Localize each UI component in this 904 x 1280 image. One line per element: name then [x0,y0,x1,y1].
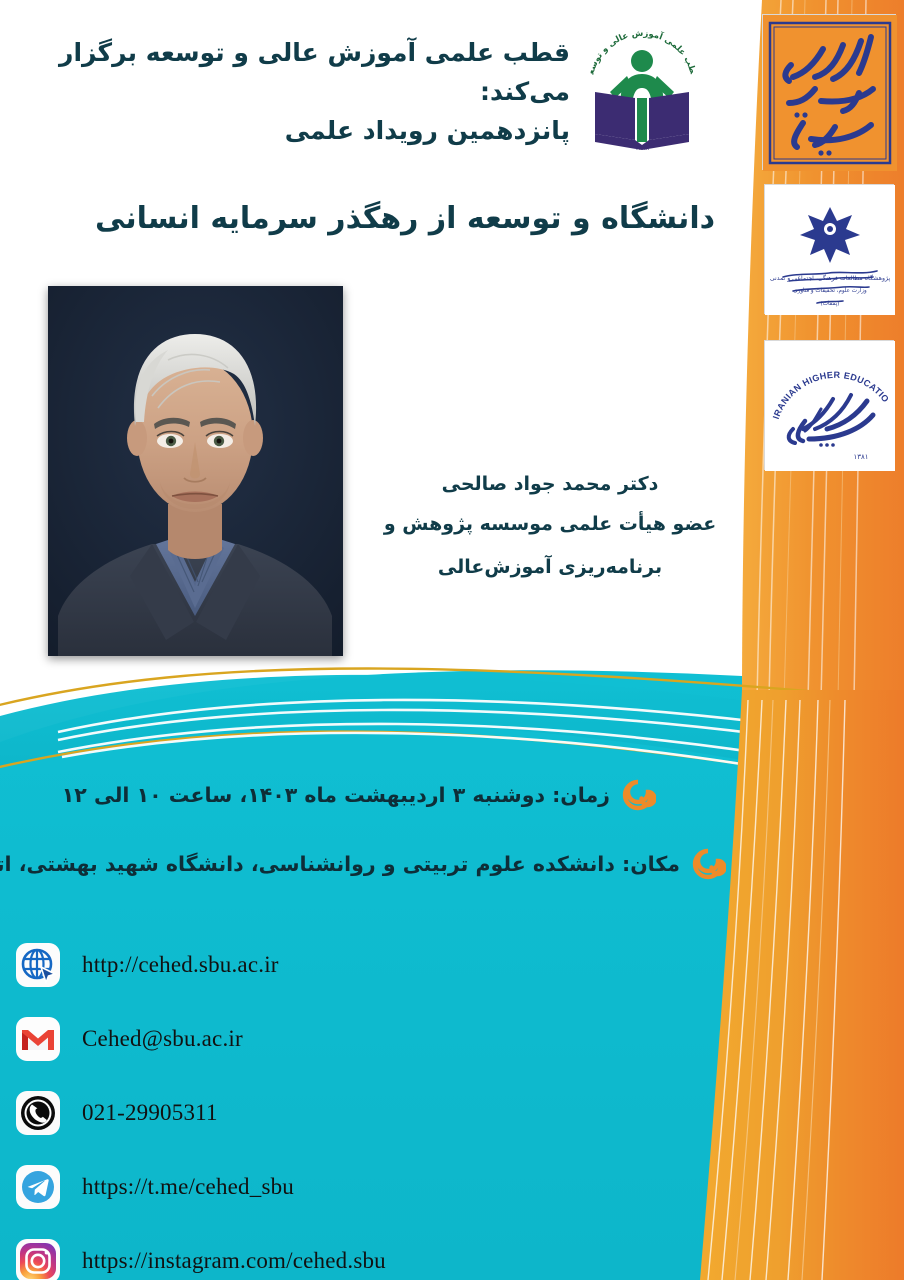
poster-header: قطب علمی آموزش عالی و توسعه برگزار می‌کن… [40,34,570,150]
logo-shahid-beheshti-university [762,14,896,170]
ihcs-logo-line1: پژوهشگاه مطالعات فرهنگی، اجتماعی و تمدنی [770,274,891,282]
ihea-logo-year: ۱۳۸۱ [853,453,868,461]
phone-number[interactable]: 021-29905311 [82,1100,218,1126]
logo-ihcs-research-institute: پژوهشگاه مطالعات فرهنگی، اجتماعی و تمدنی… [764,184,894,314]
event-time-row: زمان: دوشنبه ۳ اردیبهشت ماه ۱۴۰۳، ساعت ۱… [62,777,656,813]
speaker-info: دکتر محمد جواد صالحی عضو هیأت علمی موسسه… [380,470,720,585]
swirl-bullet-icon [620,777,656,813]
email-address[interactable]: Cehed@sbu.ac.ir [82,1026,243,1052]
speaker-affiliation-line-1: عضو هیأت علمی موسسه پژوهش و [380,507,720,542]
telegram-icon [14,1163,62,1211]
instagram-url[interactable]: https://instagram.com/cehed.sbu [82,1248,386,1274]
speaker-photo [48,286,343,656]
contact-row-telegram[interactable]: https://t.me/cehed_sbu [8,1150,568,1224]
speaker-name: دکتر محمد جواد صالحی [380,470,720,499]
website-url[interactable]: http://cehed.sbu.ac.ir [82,952,279,978]
contact-row-email[interactable]: Cehed@sbu.ac.ir [8,1002,568,1076]
contact-list: http://cehed.sbu.ac.ir Cehed@sbu.ac.ir [8,928,568,1280]
event-poster: قطب علمی آموزش عالی و توسعه برگزار می‌کن… [0,0,904,1280]
cehed-logo-year: ۱۳۹۸ [635,144,649,152]
speaker-affiliation-line-2: برنامه‌ریزی آموزش‌عالی [380,550,720,585]
event-place-text: مکان: دانشکده علوم تربیتی و روانشناسی، د… [0,852,680,876]
contact-row-website[interactable]: http://cehed.sbu.ac.ir [8,928,568,1002]
swirl-bullet-icon [690,846,726,882]
event-place-row: مکان: دانشکده علوم تربیتی و روانشناسی، د… [0,846,726,882]
contact-row-instagram[interactable]: https://instagram.com/cehed.sbu [8,1224,568,1280]
telegram-url[interactable]: https://t.me/cehed_sbu [82,1174,294,1200]
contact-row-phone[interactable]: 021-29905311 [8,1076,568,1150]
phone-icon [14,1089,62,1137]
event-time-text: زمان: دوشنبه ۳ اردیبهشت ماه ۱۴۰۳، ساعت ۱… [62,783,610,807]
page-title: دانشگاه و توسعه از رهگذر سرمایه انسانی [60,198,750,240]
header-line-1: قطب علمی آموزش عالی و توسعه برگزار می‌کن… [40,34,570,112]
header-line-2: پانزدهمین رویداد علمی [40,112,570,151]
cehed-logo: قطب علمی آموزش عالی و توسعه ۱۳۹۸ [583,14,701,154]
instagram-icon [14,1237,62,1280]
globe-website-icon [14,941,62,989]
ihcs-logo-line2: وزارت علوم، تحقیقات و فناوری [793,288,867,294]
logo-iranian-higher-education-association: IRANIAN HIGHER EDUCATION ASSOCIATION ۱۳۸… [764,340,894,470]
ihcs-logo-line3: (پمفات) [821,301,840,307]
gmail-envelope-icon [14,1015,62,1063]
